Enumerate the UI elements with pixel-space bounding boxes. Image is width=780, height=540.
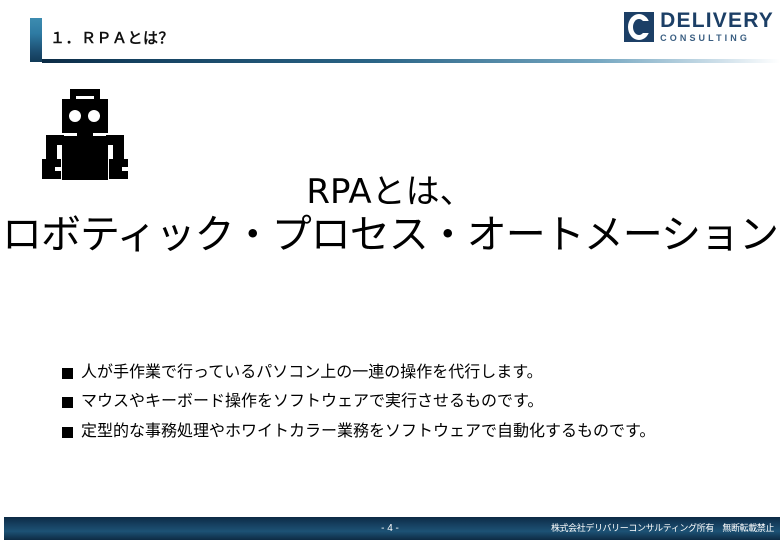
logo-wordmark: DELIVERY CONSULTING <box>660 10 774 43</box>
header-accent-bar <box>30 18 42 62</box>
brand-logo: DELIVERY CONSULTING <box>624 10 774 43</box>
bullet-square-icon <box>62 427 73 438</box>
headline-line-2: ロボティック・プロセス・オートメーション <box>0 212 780 259</box>
bullet-square-icon <box>62 397 73 408</box>
logo-notch-shape <box>641 21 654 33</box>
list-item-label: 定型的な事務処理やホワイトカラー業務をソフトウェアで自動化するものです。 <box>81 422 655 440</box>
bullet-square-icon <box>62 368 73 379</box>
logo-c-mark-icon <box>624 12 654 42</box>
logo-company-subtitle: CONSULTING <box>660 34 774 43</box>
list-item: 人が手作業で行っているパソコン上の一連の操作を代行します。 <box>62 363 762 381</box>
bullet-list: 人が手作業で行っているパソコン上の一連の操作を代行します。 マウスやキーボード操… <box>62 363 762 451</box>
headline-block: RPAとは、 ロボティック・プロセス・オートメーション <box>0 172 780 259</box>
page-title: １．ＲＰＡとは？ <box>50 27 174 48</box>
list-item: 定型的な事務処理やホワイトカラー業務をソフトウェアで自動化するものです。 <box>62 422 762 440</box>
robot-icon <box>32 85 142 180</box>
list-item-label: マウスやキーボード操作をソフトウェアで実行させるものです。 <box>81 392 543 410</box>
header-divider <box>42 59 780 63</box>
slide-canvas: １．ＲＰＡとは？ DELIVERY CONSULTING <box>0 0 780 540</box>
copyright-notice: 株式会社デリバリーコンサルティング所有 無断転載禁止 <box>551 521 774 534</box>
headline-line-1: RPAとは、 <box>0 172 780 212</box>
logo-company-name: DELIVERY <box>660 10 774 31</box>
list-item-label: 人が手作業で行っているパソコン上の一連の操作を代行します。 <box>81 363 543 381</box>
list-item: マウスやキーボード操作をソフトウェアで実行させるものです。 <box>62 392 762 410</box>
